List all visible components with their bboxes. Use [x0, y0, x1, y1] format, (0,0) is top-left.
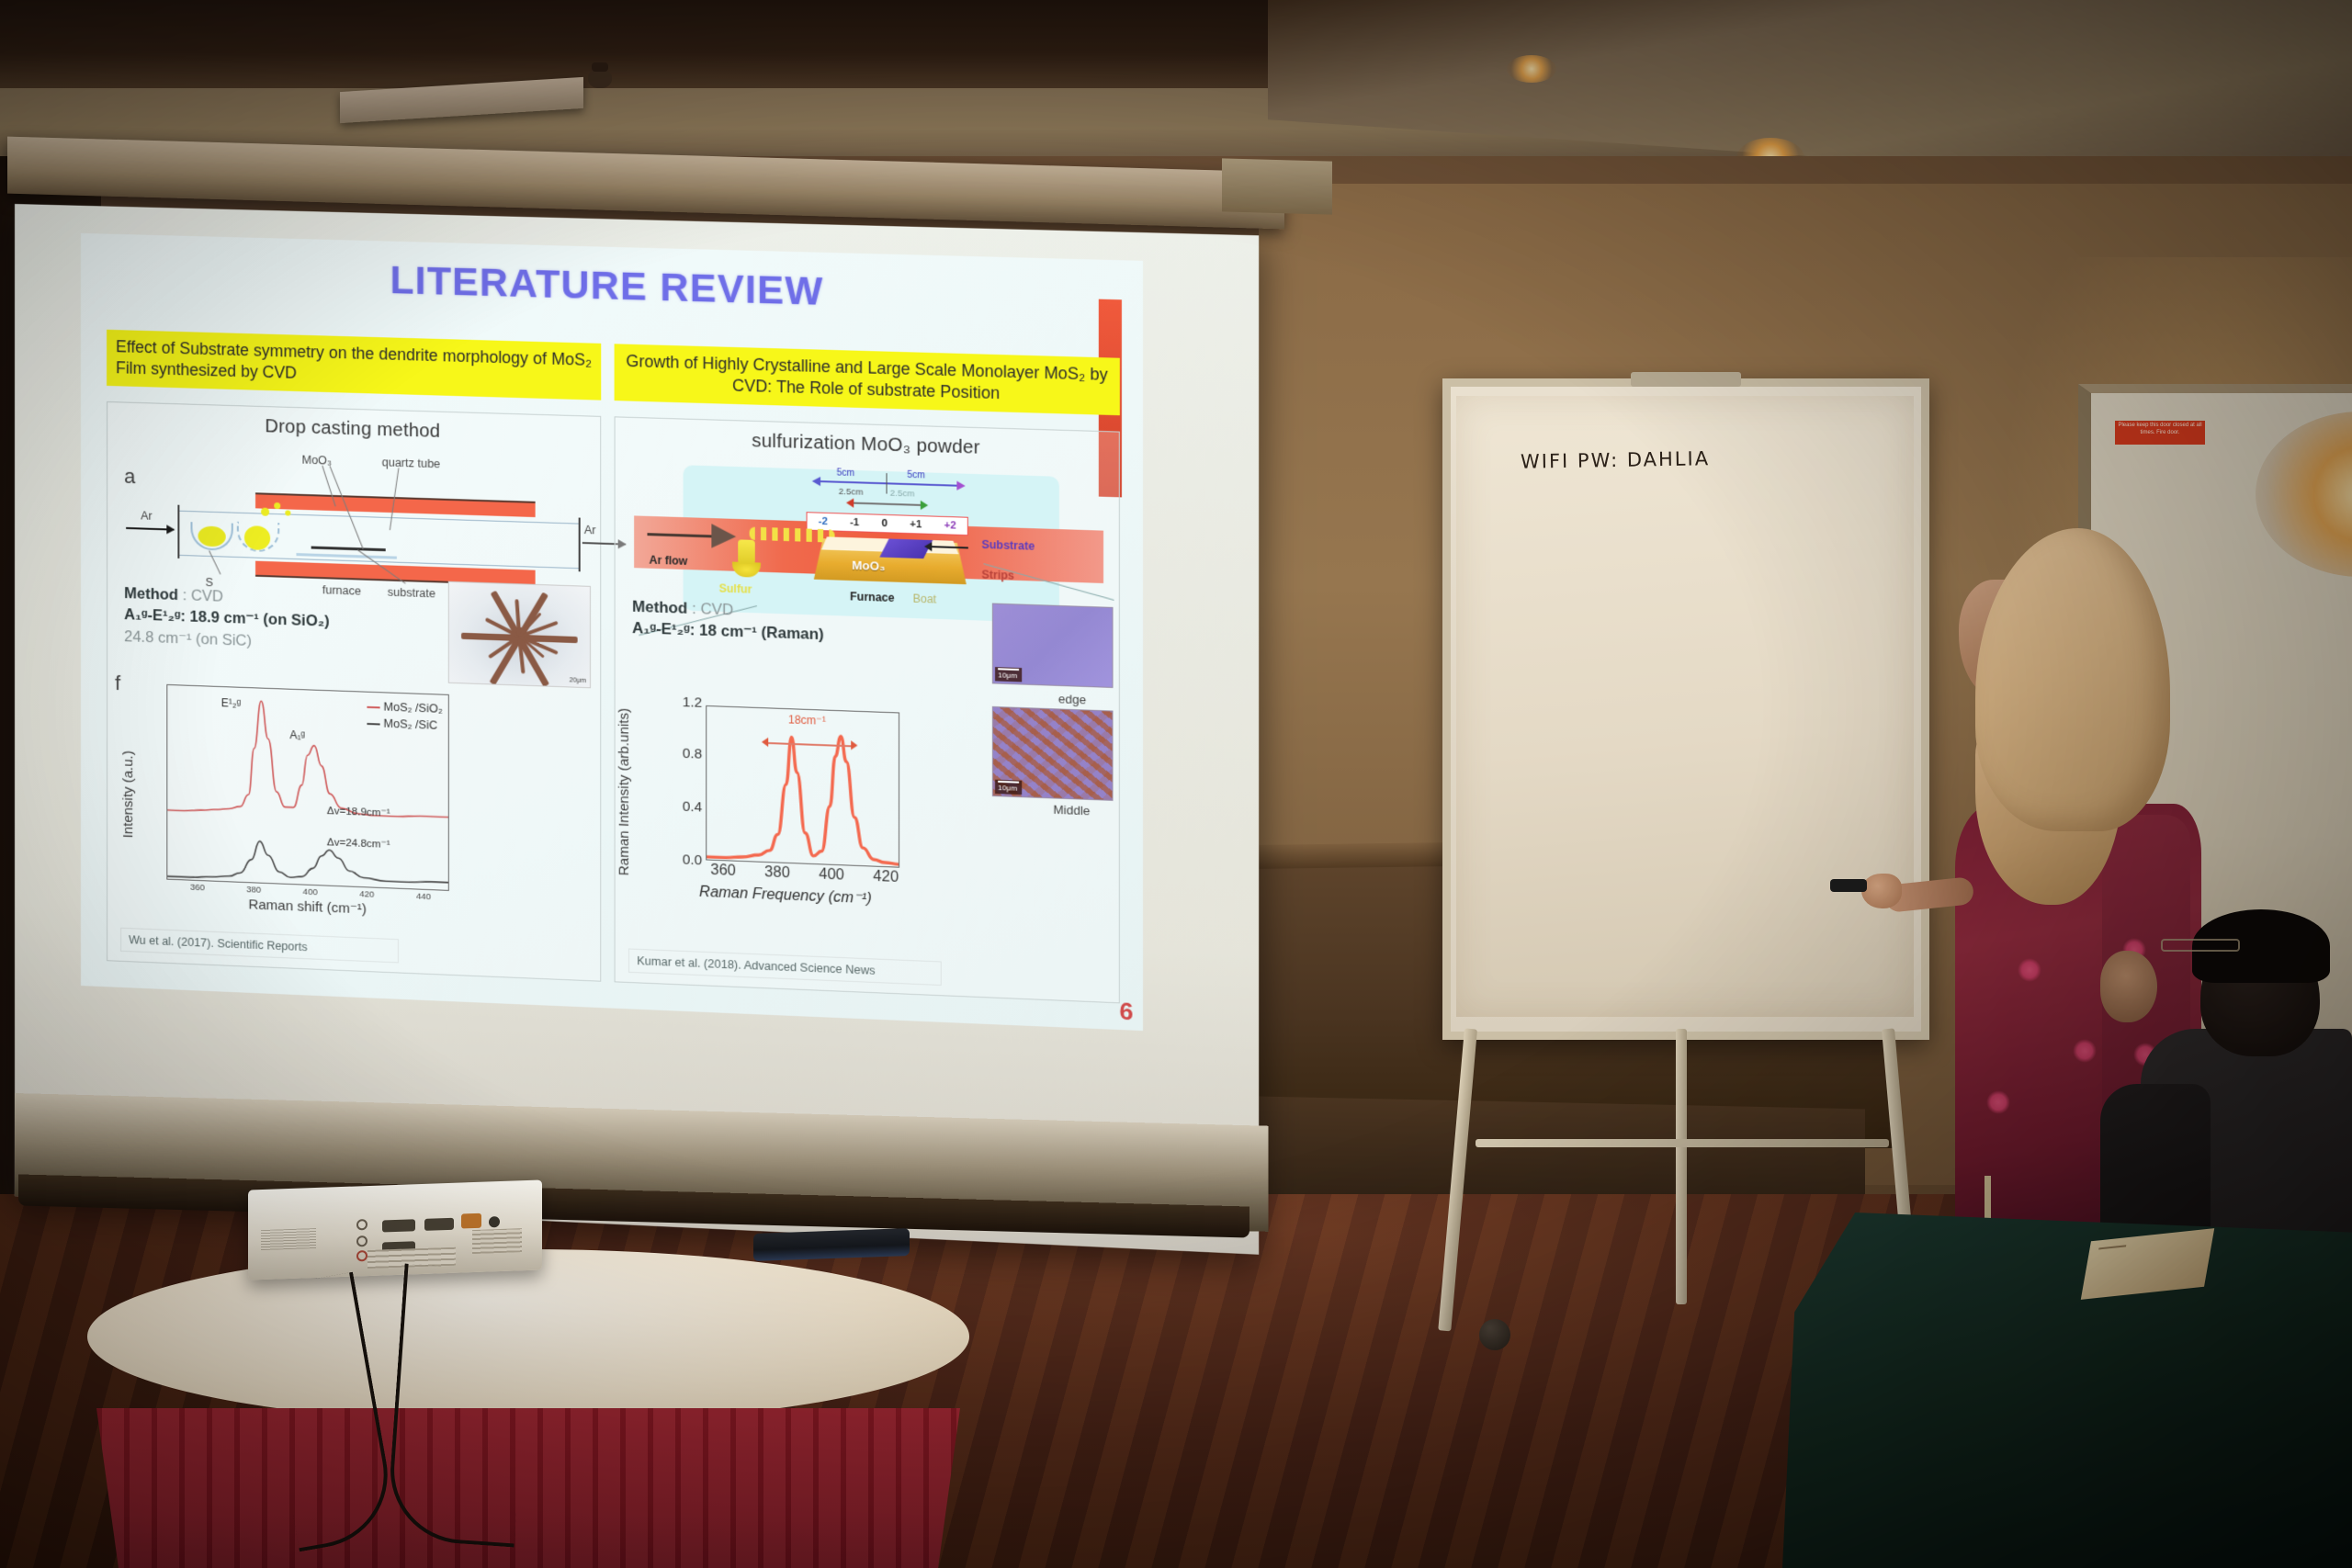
xtick: 400 — [819, 866, 844, 884]
position-plus2: +2 — [944, 520, 956, 532]
micrograph-middle-caption: Middle — [1053, 803, 1090, 818]
projector-hdmi-port[interactable] — [424, 1218, 454, 1231]
legend-label: MoS₂ /SiO₂ — [383, 700, 442, 715]
highlight-row: Effect of Substrate symmetry on the dend… — [107, 330, 1120, 415]
delta-nu-label-sio2: Δv=18.9cm⁻¹ — [327, 804, 390, 819]
projector-vga-port-1[interactable] — [382, 1219, 415, 1232]
remote-control-device[interactable] — [753, 1228, 910, 1261]
label-moo3: MoO₃ — [852, 558, 885, 573]
dendrite-scale-label: 20μm — [570, 677, 586, 684]
arrow-right-icon — [956, 481, 965, 491]
scalebar-middle: 10μm — [995, 780, 1022, 795]
highlight-box-right: Growth of Highly Crystalline and Large S… — [615, 344, 1120, 415]
label-moo3: MoO₃ — [302, 454, 333, 468]
projector-vent-grille — [472, 1228, 522, 1254]
sulfur-vapor-plume — [738, 539, 755, 564]
figure-tag-f: f — [115, 671, 120, 695]
left-method-label: Method — [124, 585, 178, 604]
position-minus2: -2 — [819, 516, 828, 528]
flipchart-caster — [1479, 1319, 1510, 1350]
legend-label: MoS₂ /SiC — [383, 717, 437, 732]
projector-power-cable — [386, 1263, 534, 1547]
arrow-left-icon — [812, 477, 820, 486]
position-plus1: +1 — [910, 519, 922, 531]
xtick: 380 — [764, 864, 790, 882]
citation-right: Kumar et al. (2018). Advanced Science Ne… — [628, 948, 942, 986]
projection-screen: LITERATURE REVIEW Effect of Substrate sy… — [15, 204, 1259, 1255]
left-method-sep: : — [178, 587, 191, 604]
xtick: 360 — [190, 883, 205, 894]
presentation-clicker[interactable] — [1830, 879, 1867, 892]
left-method-block: Method : CVD A₁ᵍ-E¹₂ᵍ: 18.9 cm⁻¹ (on SiO… — [124, 583, 330, 655]
dress-floral-motif — [2018, 958, 2041, 982]
sulfur-melt-icon — [198, 525, 226, 547]
right-method-value: CVD — [700, 601, 733, 618]
substrate-pointer-head-icon — [924, 542, 932, 551]
sulfur-vapor-dot — [285, 510, 290, 515]
sulfur-vapor-dot — [274, 502, 280, 509]
label-boat: Boat — [913, 592, 937, 605]
door-warning-sign: Please keep this door closed at all time… — [2115, 421, 2205, 445]
eyeglasses-icon — [2161, 939, 2240, 952]
substrate-plate — [343, 547, 386, 552]
flipchart-cross-bar — [1476, 1139, 1889, 1147]
right-method-block: Method : CVD A₁ᵍ-E¹₂ᵍ: 18 cm⁻¹ (Raman) — [632, 597, 824, 648]
right-method-sep: : — [687, 601, 700, 618]
audience-person-hand — [2100, 951, 2157, 1022]
label-ar-out: Ar — [584, 524, 596, 537]
chart-left-ylabel: Intensity (a.u.) — [120, 750, 136, 839]
leader-line — [209, 550, 220, 574]
flipchart-board[interactable]: WIFI PW: DAHLIA — [1442, 378, 1929, 1040]
dendrite-micrograph: 20μm — [448, 581, 591, 689]
position-zero: 0 — [881, 518, 887, 529]
label-25cm-right: 2.5cm — [890, 489, 915, 500]
sprinkler-head-icon — [588, 68, 612, 88]
arrow-left-icon — [846, 498, 854, 507]
flipchart-paper: WIFI PW: DAHLIA — [1456, 396, 1914, 1017]
panels-row: Drop casting method a MoO₃ quartz tube A… — [107, 401, 1120, 1003]
label-furnace: Furnace — [850, 590, 894, 604]
chart-right-yticks: 0.0 0.4 0.8 1.2 — [662, 698, 704, 860]
sulfur-melt-icon — [244, 525, 270, 550]
peak-label-a1g: A₁ᵍ — [289, 728, 305, 742]
chart-right-plot-area: 18cm⁻¹ — [706, 705, 899, 868]
scalebar-edge: 10μm — [995, 667, 1022, 682]
green-draped-table — [1782, 1213, 2352, 1568]
panel-left: Drop casting method a MoO₃ quartz tube A… — [107, 401, 601, 982]
label-substrate: Substrate — [981, 538, 1035, 553]
flipchart-clip — [1631, 372, 1741, 387]
projected-slide: LITERATURE REVIEW Effect of Substrate sy… — [81, 233, 1143, 1031]
ytick: 0.8 — [683, 746, 702, 762]
xtick: 400 — [303, 887, 318, 898]
ytick: 1.2 — [683, 694, 702, 711]
chart-right-raman: Raman Intensity (arb.units) 0.0 0.4 0.8 … — [657, 698, 906, 906]
chart-left-legend: MoS₂ /SiO₂ MoS₂ /SiC — [367, 698, 442, 735]
peak-label-e2g: E¹₂ᵍ — [221, 696, 241, 710]
figure-tag-a: a — [124, 465, 135, 489]
label-sulfur: Sulfur — [719, 581, 752, 595]
label-ar-flow: Ar flow — [650, 553, 688, 568]
chart-left-plot-area: MoS₂ /SiO₂ MoS₂ /SiC E¹₂ᵍ A₁ᵍ Δv=18.9cm⁻… — [166, 684, 448, 891]
presenter-hand — [1861, 874, 1902, 908]
ceiling-shadow — [0, 0, 1305, 88]
chart-left-raman-spectrum: f Intensity (a.u.) MoS₂ /SiO₂ MoS₂ /SiC … — [133, 680, 449, 923]
citation-left: Wu et al. (2017). Scientific Reports — [120, 928, 399, 964]
panel-right: sulfurization MoO₃ powder 5cm 5cm — [615, 416, 1120, 1003]
xtick: 420 — [873, 869, 899, 886]
left-method-value: CVD — [191, 587, 223, 604]
ytick: 0.4 — [683, 798, 702, 815]
projector-audio-port[interactable] — [356, 1219, 367, 1230]
xtick: 440 — [416, 892, 431, 903]
delta-nu-label-sic: Δv=24.8cm⁻¹ — [327, 835, 390, 851]
projector-device[interactable] — [248, 1179, 542, 1280]
label-5cm-right: 5cm — [907, 470, 925, 481]
projector-rca-port[interactable] — [356, 1250, 367, 1261]
label-25cm-left: 2.5cm — [839, 487, 864, 498]
chart-right-line — [707, 706, 899, 867]
projector-usb-port[interactable] — [489, 1216, 500, 1227]
projection-screen-housing-cap — [1222, 158, 1332, 214]
tube-cap-left — [177, 505, 179, 558]
conference-room-photo: LITERATURE REVIEW Effect of Substrate sy… — [0, 0, 2352, 1568]
ceiling-light-icon — [1507, 55, 1556, 83]
arrow-right-icon — [851, 740, 857, 750]
dress-floral-motif — [1986, 1090, 2010, 1114]
label-ar-in: Ar — [141, 509, 153, 522]
right-raman-line-text: A₁ᵍ-E¹₂ᵍ: 18 cm⁻¹ (Raman) — [632, 620, 824, 643]
label-quartz-tube: quartz tube — [382, 456, 441, 470]
scalebar-label: 10μm — [998, 671, 1017, 680]
chart-right-ylabel: Raman Intensity (arb.units) — [616, 707, 633, 875]
projector-video-port[interactable] — [356, 1235, 367, 1247]
slide-title: LITERATURE REVIEW — [81, 250, 1143, 323]
legend-swatch — [367, 723, 379, 726]
scalebar-label: 10μm — [998, 784, 1017, 793]
xtick: 420 — [359, 889, 374, 900]
projector-label — [261, 1228, 316, 1250]
tube-cap-right — [579, 518, 581, 572]
dress-floral-motif — [2073, 1039, 2097, 1063]
label-substrate: substrate — [388, 586, 435, 601]
slide-page-number: 6 — [1119, 997, 1133, 1026]
arrow-left-icon — [762, 738, 768, 747]
peak-separation-label: 18cm⁻¹ — [788, 713, 826, 728]
legend-swatch — [367, 706, 379, 709]
sulfur-vapor-trail — [750, 527, 835, 543]
legend-entry: MoS₂ /SiC — [367, 715, 442, 734]
flipchart-leg-left — [1438, 1028, 1477, 1331]
projector-power-connector[interactable] — [461, 1213, 481, 1229]
flipchart-leg-center — [1676, 1029, 1687, 1304]
xtick: 360 — [710, 863, 736, 880]
micrograph-edge: 10μm — [992, 604, 1114, 688]
slide-content: LITERATURE REVIEW Effect of Substrate sy… — [81, 233, 1143, 1031]
flipchart-wifi-note: WIFI PW: DAHLIA — [1521, 447, 1710, 473]
micrograph-edge-caption: edge — [1058, 692, 1086, 706]
center-tick — [887, 473, 888, 493]
presenter-hijab — [1975, 528, 2170, 831]
position-minus1: -1 — [850, 517, 859, 529]
ar-flow-arrowhead-icon — [711, 524, 736, 548]
highlight-box-left: Effect of Substrate symmetry on the dend… — [107, 330, 601, 400]
argon-inflow-arrow-icon — [126, 527, 174, 531]
sulfur-vapor-dot — [261, 508, 269, 516]
micrograph-middle: 10μm — [992, 706, 1114, 801]
ytick: 0.0 — [683, 852, 702, 868]
right-method-label: Method — [632, 599, 687, 617]
arrow-right-icon — [921, 501, 928, 510]
xtick: 380 — [246, 885, 261, 896]
label-5cm-left: 5cm — [837, 468, 855, 479]
